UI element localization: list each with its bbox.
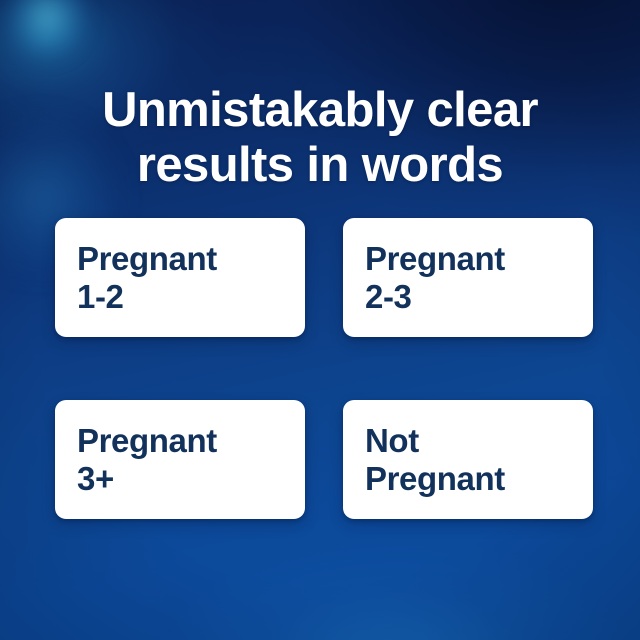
result-card-pregnant-2-3: Pregnant 2-3 <box>343 218 593 337</box>
result-card-line-2: 1-2 <box>77 278 217 316</box>
result-card-text: Pregnant 3+ <box>77 422 217 497</box>
result-card-pregnant-1-2: Pregnant 1-2 <box>55 218 305 337</box>
promo-image: Unmistakably clear results in words Preg… <box>0 0 640 640</box>
result-card-line-2: 3+ <box>77 460 217 498</box>
result-card-grid: Pregnant 1-2 Pregnant 2-3 Pregnant 3+ No… <box>55 218 593 523</box>
result-card-line-2: 2-3 <box>365 278 505 316</box>
headline: Unmistakably clear results in words <box>0 83 640 193</box>
headline-line-2: results in words <box>0 138 640 193</box>
result-card-line-1: Not <box>365 422 505 460</box>
result-card-not-pregnant: Not Pregnant <box>343 400 593 519</box>
result-card-text: Pregnant 1-2 <box>77 240 217 315</box>
headline-line-1: Unmistakably clear <box>0 83 640 138</box>
result-card-text: Pregnant 2-3 <box>365 240 505 315</box>
result-card-pregnant-3-plus: Pregnant 3+ <box>55 400 305 519</box>
result-card-line-1: Pregnant <box>77 422 217 460</box>
result-card-text: Not Pregnant <box>365 422 505 497</box>
result-card-line-2: Pregnant <box>365 460 505 498</box>
result-card-line-1: Pregnant <box>77 240 217 278</box>
result-card-line-1: Pregnant <box>365 240 505 278</box>
